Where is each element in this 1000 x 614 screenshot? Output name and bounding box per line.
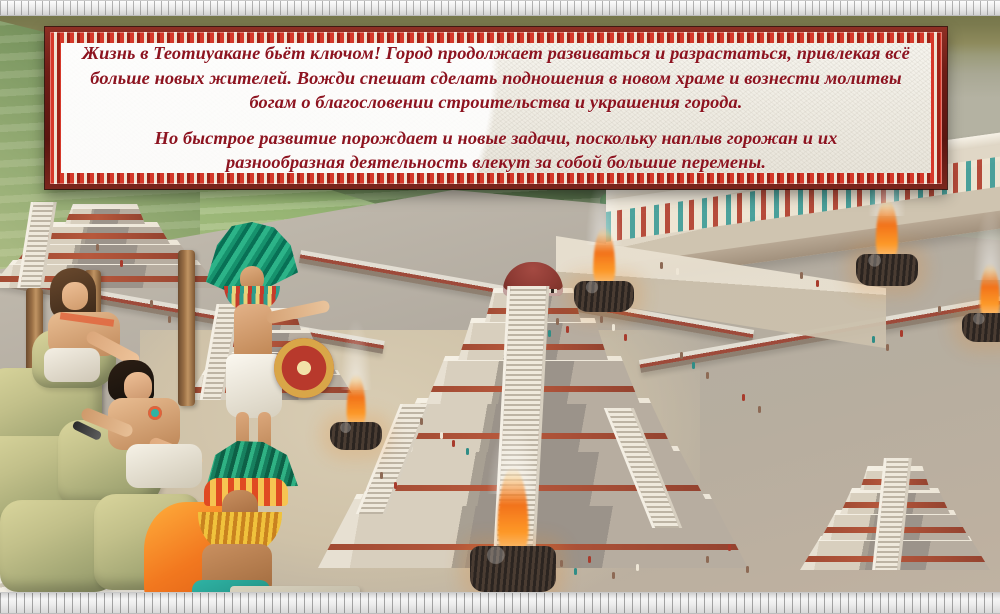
figure-priest-carving-glyph	[150, 440, 350, 614]
round-shield	[274, 338, 334, 398]
narrative-paragraph-2: Но быстрое развитие порождает и новые за…	[116, 126, 876, 175]
panel-paper-surface: Жизнь в Теотиуакане бьёт ключом! Город п…	[61, 43, 931, 173]
brazier-with-fire	[856, 228, 918, 286]
narrative-text-panel: Жизнь в Теотиуакане бьёт ключом! Город п…	[45, 27, 947, 189]
bottom-ruler-band	[0, 592, 1000, 614]
narrative-paragraph-1: Жизнь в Теотиуакане бьёт ключом! Город п…	[79, 41, 913, 115]
top-ruler-band	[0, 0, 1000, 16]
screenshot-root: Жизнь в Теотиуакане бьёт ключом! Город п…	[0, 0, 1000, 614]
brazier-with-fire	[574, 256, 634, 312]
right-step-pyramid	[800, 440, 990, 570]
brazier-with-fire	[962, 290, 1000, 342]
panel-ornamental-border: Жизнь в Теотиуакане бьёт ключом! Город п…	[50, 32, 942, 184]
brazier-with-fire	[470, 510, 556, 592]
